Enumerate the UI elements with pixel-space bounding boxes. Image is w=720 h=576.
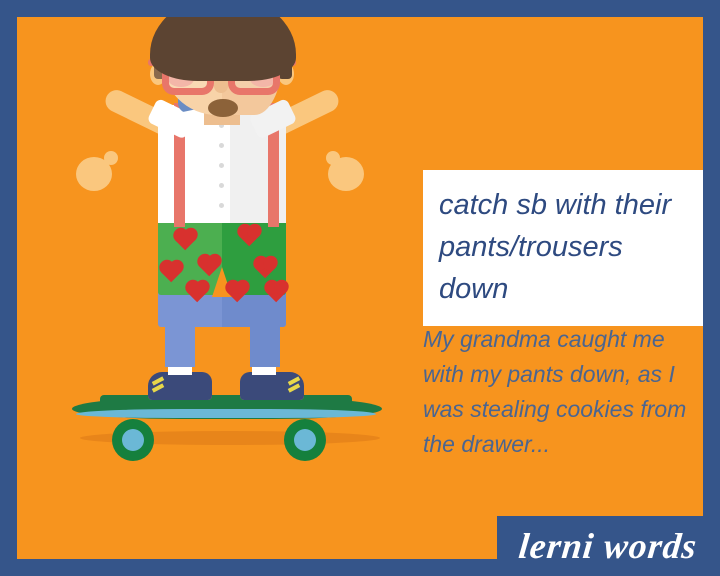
thumb-left [104, 151, 118, 165]
mouth [208, 99, 238, 117]
idiom-title: catch sb with their pants/trousers down [439, 184, 687, 310]
skateboard-deck-top [100, 395, 352, 407]
hair [150, 0, 296, 81]
brand-logo-text: lerni words [517, 525, 699, 567]
shirt-button [219, 183, 224, 188]
skateboard-hub-right [294, 429, 316, 451]
skateboard-hub-left [122, 429, 144, 451]
card-stage: catch sb with their pants/trousers down … [17, 17, 703, 559]
idiom-example: My grandma caught me with my pants down,… [423, 322, 708, 462]
shirt-button [219, 163, 224, 168]
idiom-card: catch sb with their pants/trousers down … [0, 0, 720, 576]
skateboard-stripe [76, 409, 376, 418]
thumb-right [326, 151, 340, 165]
brand-logo: lerni words [497, 516, 720, 576]
shirt-button [219, 143, 224, 148]
shirt-button [219, 203, 224, 208]
illustration-skateboard-boy [62, 27, 392, 507]
idiom-title-box: catch sb with their pants/trousers down [423, 170, 703, 326]
